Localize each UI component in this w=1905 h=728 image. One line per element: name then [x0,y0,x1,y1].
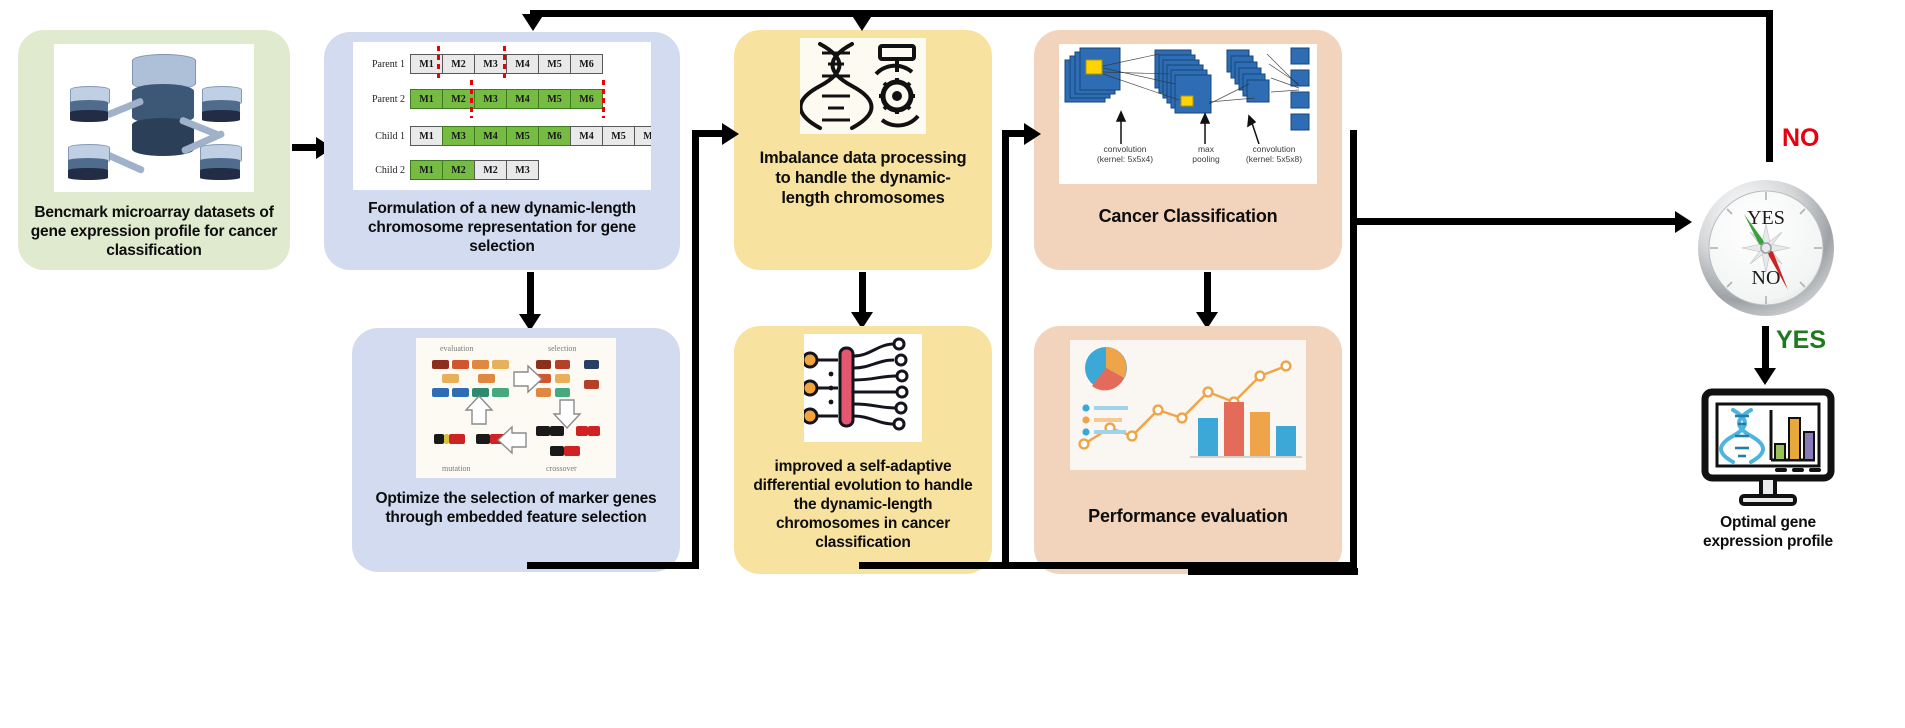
gene-cell: M2 [442,160,475,180]
gene-cell: M1 [410,89,443,109]
cnn-architecture-icon: convolution (kernel: 5x5x4) max pooling … [1059,44,1317,184]
box-imbalance-data[interactable]: Imbalance data processing to handle the … [734,30,992,270]
cnn-caption-convolution1: convolution (kernel: 5x5x4) [1079,144,1171,164]
gene-cell: M1 [410,126,443,146]
gene-cell: M5 [538,89,571,109]
cnn-caption-text: (kernel: 5x5x8) [1246,154,1302,164]
cnn-caption-maxpooling: max pooling [1179,144,1233,164]
box-chromosome[interactable]: Parent 1 M1 M2 M3 M4 M5 M6 Parent 2 M1 M… [324,32,680,270]
cnn-caption-text: convolution [1103,144,1146,154]
gene-cell: M3 [474,89,507,109]
analytics-chart-icon [1070,340,1306,470]
compass-decision-icon[interactable]: YES NO [1696,178,1836,318]
box-self-adaptive-de[interactable]: improved a self-adaptive differential ev… [734,326,992,574]
cut-point-marker [602,80,605,118]
gene-cell: M5 [506,126,539,146]
gene-cell: M4 [506,54,539,74]
gene-cell: M2 [442,54,475,74]
gene-cell: M3 [442,126,475,146]
monitor-dna-chart-icon [1693,386,1843,506]
cnn-caption-text: pooling [1192,154,1219,164]
gene-cell: M4 [570,126,603,146]
box-datasets-caption: Bencmark microarray datasets of gene exp… [29,204,279,261]
box-performance-evaluation[interactable]: Performance evaluation [1034,326,1342,574]
gene-cell: M1 [410,160,443,180]
gene-cell: M6 [634,126,651,146]
output-caption: Optimal gene expression profile [1680,514,1856,552]
decision-yes-label: YES [1776,326,1826,355]
box-imbalance-data-caption: Imbalance data processing to handle the … [755,148,971,208]
cnn-caption-text: max [1198,144,1214,154]
cycle-arrows-icon [416,338,616,478]
crossover-row-label: Parent 2 [359,94,410,105]
gene-cell: M4 [474,126,507,146]
neural-chip-icon [804,334,922,442]
flowchart-canvas: Bencmark microarray datasets of gene exp… [0,0,1905,728]
output-node[interactable]: Optimal gene expression profile [1678,386,1858,566]
cnn-caption-text: convolution [1252,144,1295,154]
database-network-icon [54,44,254,192]
box-datasets[interactable]: Bencmark microarray datasets of gene exp… [18,30,290,270]
cut-point-marker [437,46,440,82]
box-cancer-classification-caption: Cancer Classification [1099,206,1278,228]
gene-cell: M5 [538,54,571,74]
gene-cell: M3 [506,160,539,180]
box-self-adaptive-de-caption: improved a self-adaptive differential ev… [752,458,974,553]
box-feature-selection[interactable]: evaluation selection mutation crossover [352,328,680,572]
gene-cell: M5 [602,126,635,146]
gene-cell: M2 [474,160,507,180]
cut-point-marker [470,80,473,118]
gene-cell: M6 [538,126,571,146]
cut-point-marker [503,46,506,82]
dna-gear-icon [800,38,926,134]
decision-no-label: NO [1782,124,1820,153]
compass-no-text: NO [1752,267,1781,289]
compass-yes-text: YES [1747,207,1785,229]
genetic-cycle-icon: evaluation selection mutation crossover [416,338,616,478]
box-chromosome-caption: Formulation of a new dynamic-length chro… [362,200,642,257]
box-performance-evaluation-caption: Performance evaluation [1088,506,1288,528]
crossover-row-label: Child 2 [359,165,410,176]
gene-cell: M4 [506,89,539,109]
gene-cell: M6 [570,54,603,74]
crossover-row-label: Child 1 [359,131,410,142]
crossover-table-icon: Parent 1 M1 M2 M3 M4 M5 M6 Parent 2 M1 M… [353,42,651,190]
box-feature-selection-caption: Optimize the selection of marker genes t… [366,490,666,528]
cnn-caption-convolution2: convolution (kernel: 5x5x8) [1231,144,1317,164]
cnn-caption-text: (kernel: 5x5x4) [1097,154,1153,164]
gene-cell: M6 [570,89,603,109]
crossover-row-label: Parent 1 [359,59,410,70]
box-cancer-classification[interactable]: convolution (kernel: 5x5x4) max pooling … [1034,30,1342,270]
